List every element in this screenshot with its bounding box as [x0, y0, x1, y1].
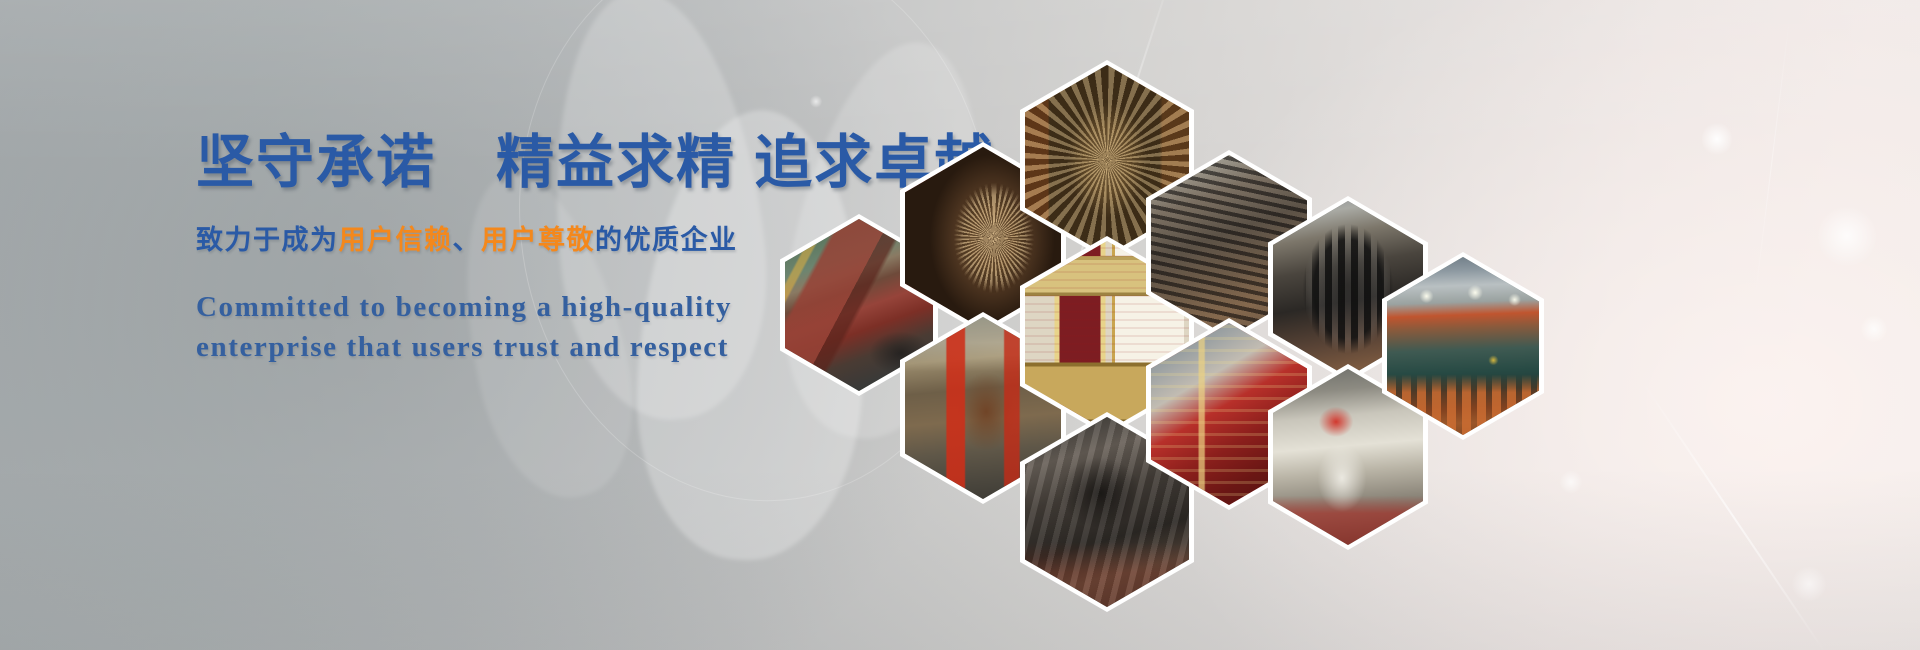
subtitle-highlight-2: 用户尊敬: [481, 225, 595, 255]
hexagon-photo-collage: [770, 46, 1450, 516]
hex-inner: [1387, 257, 1539, 435]
subtitle-part-2: 的优质企业: [595, 225, 738, 255]
lens-flare-dot: [1560, 470, 1582, 494]
promo-banner: 坚守承诺 精益求精 追求卓越 致力于成为用户信赖、用户尊敬的优质企业 Commi…: [0, 0, 1920, 650]
lens-flare-dot: [1861, 315, 1887, 343]
subtitle-highlight-1: 用户信赖: [339, 225, 453, 255]
photo-copper-busbar: [1387, 257, 1539, 435]
lens-flare-dot: [1702, 122, 1732, 156]
lens-flare-dot: [1818, 205, 1876, 267]
subtitle-separator: 、: [453, 225, 482, 255]
lens-flare-dot: [1792, 566, 1826, 602]
subtitle-part-1: 致力于成为: [196, 225, 339, 255]
